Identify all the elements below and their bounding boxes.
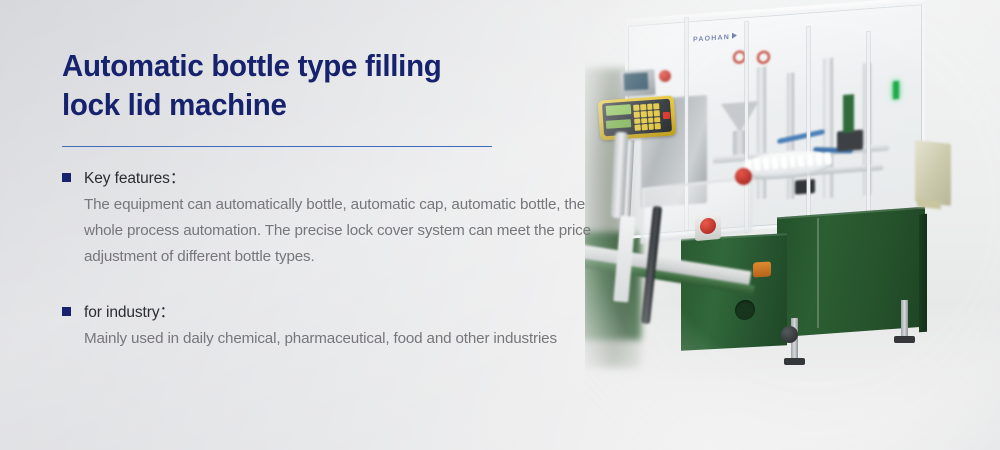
support-column bbox=[823, 58, 833, 199]
feature-heading-label: for industry： bbox=[84, 300, 175, 322]
feature-block-key-features: Key features： The equipment can automati… bbox=[62, 166, 607, 270]
leveling-foot bbox=[784, 358, 805, 365]
actuator-block bbox=[837, 130, 863, 152]
enclosure-mullion bbox=[807, 27, 810, 233]
feature-heading-label: Key features： bbox=[84, 166, 185, 188]
product-banner: Automatic bottle type filling lock lid m… bbox=[0, 0, 1000, 450]
hmi-screen bbox=[624, 72, 649, 90]
square-bullet-icon bbox=[62, 173, 71, 182]
adjustment-knob bbox=[781, 326, 798, 343]
enclosure-mullion bbox=[867, 32, 870, 232]
control-panel-keypad[interactable] bbox=[633, 103, 661, 131]
warning-label-icon bbox=[757, 50, 770, 64]
green-base-edge bbox=[919, 214, 927, 333]
feature-heading-row: Key features： bbox=[62, 166, 607, 188]
hopper-funnel bbox=[721, 101, 759, 134]
pneumatic-hose bbox=[777, 129, 825, 144]
square-bullet-icon bbox=[62, 307, 71, 316]
orange-connector-port bbox=[753, 261, 771, 277]
emergency-stop-icon[interactable] bbox=[735, 168, 752, 185]
green-base-cabinet-front bbox=[681, 233, 787, 351]
control-panel-lcd-display bbox=[606, 104, 632, 116]
feature-body-text: Mainly used in daily chemical, pharmaceu… bbox=[84, 326, 596, 352]
feature-block-for-industry: for industry： Mainly used in daily chemi… bbox=[62, 300, 607, 352]
text-column: Automatic bottle type filling lock lid m… bbox=[62, 46, 607, 352]
discharge-side-unit bbox=[915, 140, 951, 206]
product-photo: PAOHAN bbox=[585, 0, 1000, 450]
control-panel-power-light bbox=[663, 112, 670, 119]
control-board bbox=[843, 94, 854, 133]
actuator-block bbox=[795, 179, 815, 194]
feature-body-text: The equipment can automatically bottle, … bbox=[84, 192, 600, 270]
support-column bbox=[757, 67, 766, 200]
page-title: Automatic bottle type filling lock lid m… bbox=[62, 46, 580, 125]
cabinet-door-seam bbox=[817, 218, 819, 328]
brandmark-arrow-icon bbox=[732, 32, 737, 38]
leveling-foot bbox=[894, 336, 915, 343]
machine-leg bbox=[901, 300, 908, 340]
status-led-icon bbox=[893, 81, 899, 99]
title-divider bbox=[62, 146, 492, 147]
feature-heading-row: for industry： bbox=[62, 300, 607, 322]
machine-illustration: PAOHAN bbox=[585, 0, 1000, 450]
